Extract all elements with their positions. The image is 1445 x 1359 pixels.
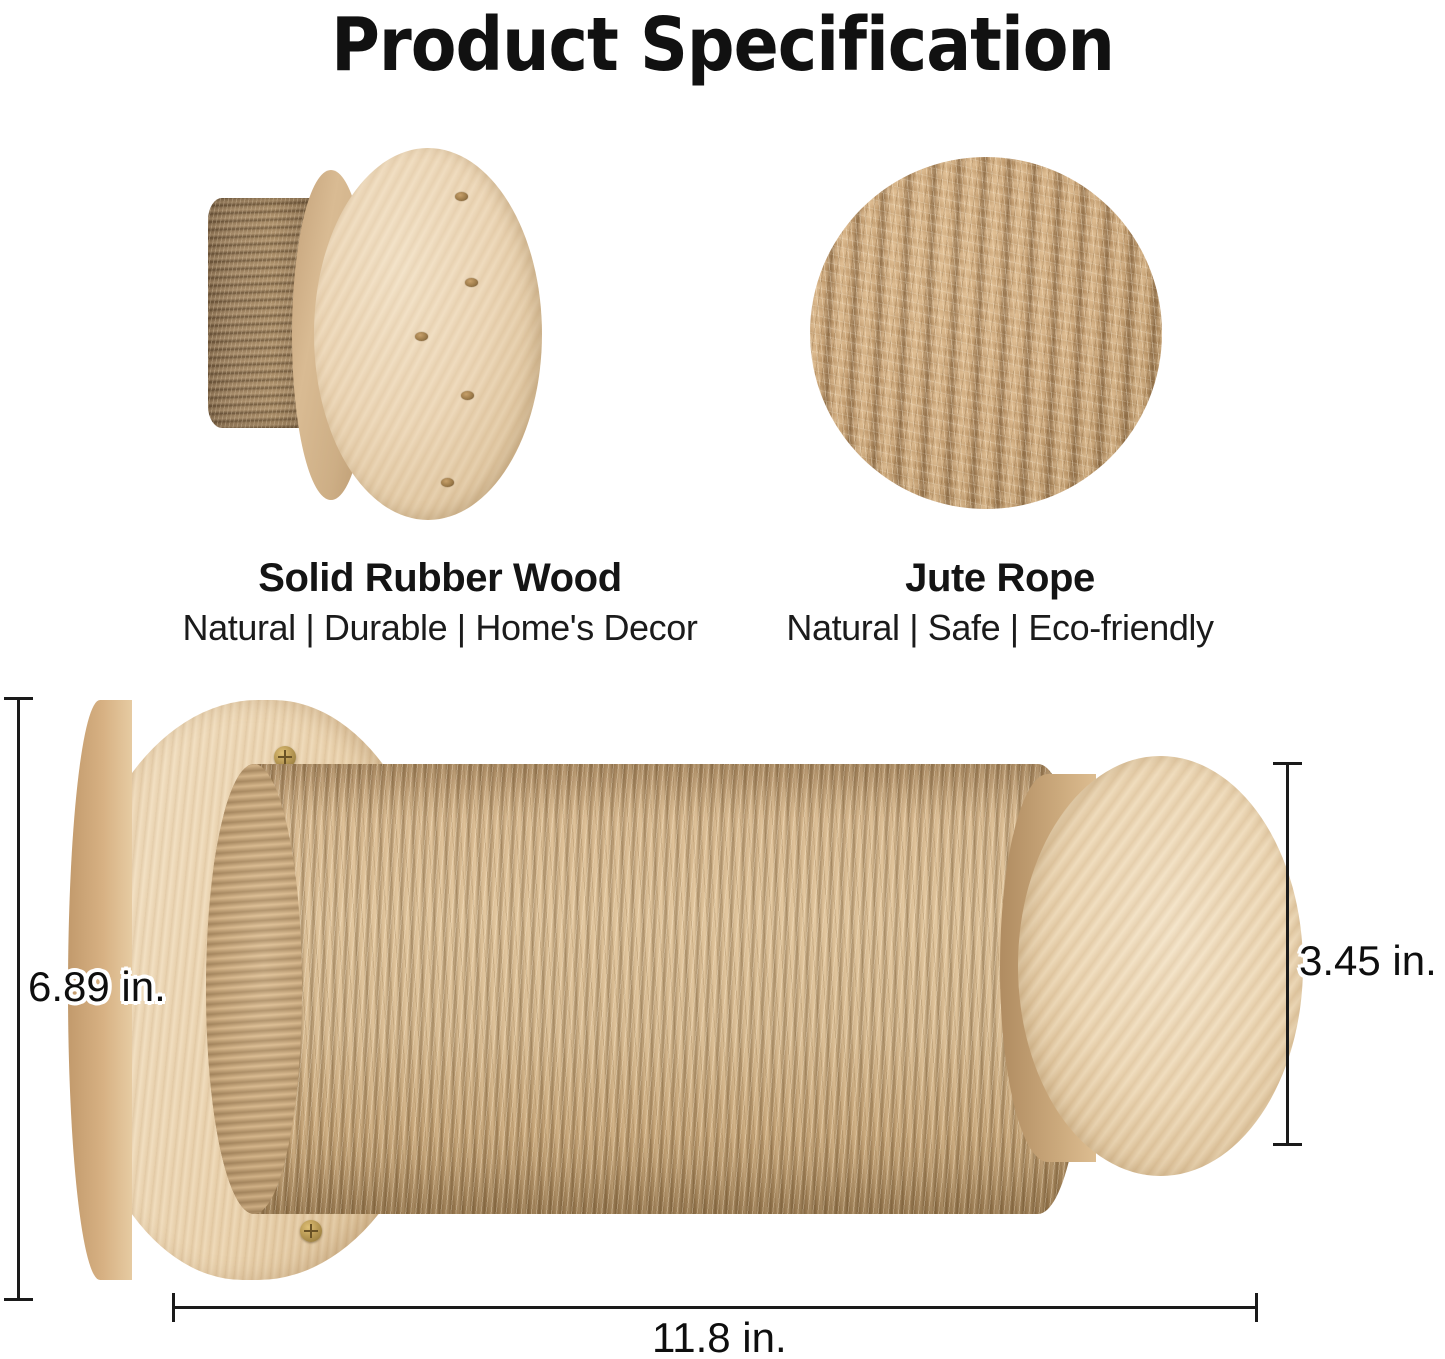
feature-solid-rubber-wood: Solid Rubber Wood Natural | Durable | Ho… [120, 556, 760, 649]
cat-scratching-post-photo [68, 696, 1248, 1296]
dimension-line-length [172, 1306, 1258, 1309]
screw-icon [461, 391, 474, 400]
feature-jute-rope: Jute Rope Natural | Safe | Eco-friendly [760, 556, 1240, 649]
feature-title: Solid Rubber Wood [120, 556, 760, 601]
product-specification-infographic: Product Specification Solid Rubber Wood … [0, 0, 1445, 1359]
rope-wrapped-cylinder [206, 764, 1086, 1214]
screw-icon [441, 478, 454, 487]
screw-icon [415, 332, 428, 341]
dimension-line-diameter [1286, 762, 1289, 1146]
page-title: Product Specification [0, 2, 1445, 88]
jute-rope-closeup-photo [810, 157, 1162, 509]
screw-icon [300, 1220, 322, 1242]
screw-icon [465, 278, 478, 287]
feature-title: Jute Rope [760, 556, 1240, 601]
wood-disc-face [314, 148, 542, 520]
dimension-label-height: 6.89 in. [28, 963, 166, 1011]
dimension-line-height [17, 697, 20, 1301]
wood-disc-photo [196, 140, 556, 530]
feature-subtitle: Natural | Safe | Eco-friendly [760, 607, 1240, 649]
screw-icon [455, 192, 468, 201]
rope-cylinder-near-end [206, 764, 302, 1214]
feature-subtitle: Natural | Durable | Home's Decor [120, 607, 760, 649]
dimension-label-diameter: 3.45 in. [1299, 937, 1437, 985]
wood-endcap-face [1018, 756, 1303, 1176]
dimension-label-length: 11.8 in. [652, 1314, 787, 1359]
